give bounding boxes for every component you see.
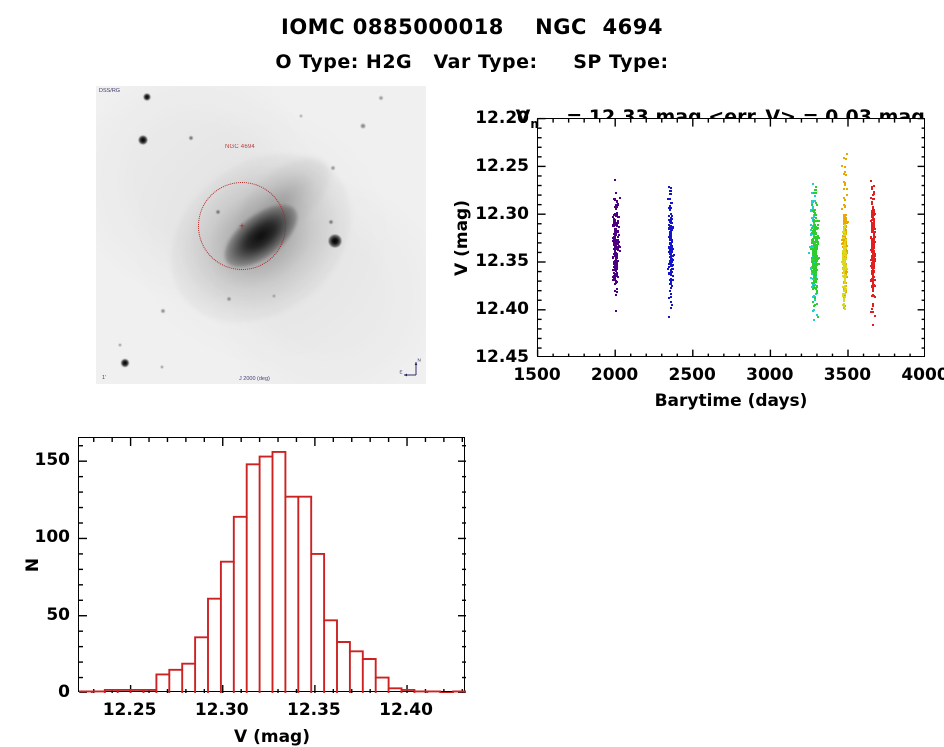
light-curve-point (814, 229, 816, 231)
light-curve-point (873, 198, 875, 200)
light-curve-point (843, 173, 845, 175)
light-curve-point (615, 294, 617, 296)
light-curve-point (813, 275, 815, 277)
light-curve-x-tick: 3000 (746, 365, 793, 385)
light-curve-point (814, 189, 816, 191)
light-curve-point (842, 231, 844, 233)
histogram-y-tick: 100 (26, 527, 70, 547)
light-curve-point (812, 282, 814, 284)
light-curve-point (671, 265, 673, 267)
light-curve-point (872, 274, 874, 276)
histogram-x-tick: 12.35 (287, 700, 341, 720)
light-curve-point (670, 193, 672, 195)
light-curve-point (845, 174, 847, 176)
field-star (227, 297, 231, 301)
light-curve-point (816, 290, 818, 292)
light-curve-point (844, 241, 846, 243)
light-curve-point (816, 303, 818, 305)
light-curve-point (815, 257, 817, 259)
light-curve-point (812, 206, 814, 208)
light-curve-point (844, 285, 846, 287)
light-curve-point (670, 243, 672, 245)
light-curve-point (870, 197, 872, 199)
light-curve-point (871, 188, 873, 190)
light-curve-point (872, 253, 874, 255)
light-curve-point (813, 277, 815, 279)
light-curve-x-axis-label: Barytime (days) (655, 391, 808, 411)
svg-text:N: N (418, 358, 421, 363)
light-curve-point (617, 236, 619, 238)
field-star (379, 96, 383, 100)
light-curve-point (846, 188, 848, 190)
field-star (300, 115, 303, 118)
light-curve-point (872, 270, 874, 272)
light-curve-point (843, 298, 845, 300)
light-curve-point (871, 230, 873, 232)
light-curve-point (816, 237, 818, 239)
light-curve-point (615, 204, 617, 206)
light-curve-point (616, 262, 618, 264)
light-curve-point (842, 304, 844, 306)
light-curve-point (845, 258, 847, 260)
field-star (273, 295, 276, 298)
light-curve-point (844, 233, 846, 235)
light-curve-point (667, 268, 669, 270)
light-curve-point (872, 305, 874, 307)
light-curve-point (874, 255, 876, 257)
light-curve-point (814, 195, 816, 197)
light-curve-point (669, 232, 671, 234)
light-curve-point (871, 286, 873, 288)
light-curve-point (813, 192, 815, 194)
light-curve-point (816, 245, 818, 247)
light-curve-point (872, 241, 874, 243)
target-center-marker: + (239, 223, 246, 230)
light-curve-point (813, 237, 815, 239)
light-curve-point (813, 272, 815, 274)
light-curve-point (844, 280, 846, 282)
scale-label: 1' (102, 375, 106, 381)
light-curve-point (670, 219, 672, 221)
light-curve-x-tick: 2500 (669, 365, 716, 385)
light-curve-point (846, 194, 848, 196)
light-curve-point (615, 310, 617, 312)
light-curve-point (817, 316, 819, 318)
light-curve-point (871, 279, 873, 281)
light-curve-point (670, 301, 672, 303)
light-curve-point (813, 309, 815, 311)
light-curve-point (844, 244, 846, 246)
light-curve-point (812, 301, 814, 303)
light-curve-point (874, 315, 876, 317)
light-curve-x-tick: 4000 (901, 365, 944, 385)
light-curve-point (844, 278, 846, 280)
light-curve-point (670, 296, 672, 298)
light-curve-point (669, 239, 671, 241)
light-curve-point (844, 308, 846, 310)
coordinate-label: J 2000 (deg) (239, 376, 270, 382)
light-curve-point (870, 180, 872, 182)
light-curve-point (670, 213, 672, 215)
light-curve-point (844, 252, 846, 254)
light-curve-point (843, 257, 845, 259)
light-curve-point (616, 256, 618, 258)
light-curve-point (670, 307, 672, 309)
light-curve-point (814, 247, 816, 249)
light-curve-point (815, 220, 817, 222)
light-curve-point (815, 233, 817, 235)
page-title: IOMC 0885000018 NGC 4694 (0, 15, 944, 39)
light-curve-y-tick: 12.45 (461, 347, 529, 367)
histogram-y-tick: 50 (26, 605, 70, 625)
light-curve-point (841, 208, 843, 210)
light-curve-point (670, 281, 672, 283)
light-curve-x-tick: 2000 (591, 365, 638, 385)
light-curve-point (874, 213, 876, 215)
light-curve-point (614, 283, 616, 285)
field-star (119, 344, 122, 347)
light-curve-point (615, 228, 617, 230)
survey-label: DSS/RG (99, 88, 120, 94)
light-curve-point (872, 303, 874, 305)
light-curve-point (616, 246, 618, 248)
light-curve-x-tick: 1500 (513, 365, 560, 385)
light-curve-point (671, 268, 673, 270)
light-curve-point (816, 248, 818, 250)
light-curve-point (872, 282, 874, 284)
light-curve-point (844, 199, 846, 201)
magnitude-histogram-plot (78, 437, 465, 692)
light-curve-point (844, 221, 846, 223)
light-curve-point (844, 224, 846, 226)
histogram-x-tick: 12.25 (103, 700, 157, 720)
light-curve-point (816, 204, 818, 206)
light-curve-point (872, 324, 874, 326)
light-curve-point (813, 225, 815, 227)
light-curve-point (670, 226, 672, 228)
light-curve-point (843, 197, 845, 199)
light-curve-point (615, 280, 617, 282)
light-curve-point (813, 319, 815, 321)
light-curve-point (845, 239, 847, 241)
light-curve-point (845, 158, 847, 160)
chart-object-label: NGC 4694 (225, 144, 255, 150)
light-curve-point (616, 201, 618, 203)
light-curve-point (816, 285, 818, 287)
light-curve-point (669, 290, 671, 292)
light-curve-point (813, 253, 815, 255)
light-curve-y-tick: 12.25 (461, 156, 529, 176)
light-curve-point (814, 297, 816, 299)
light-curve-point (818, 220, 820, 222)
light-curve-point (614, 251, 616, 253)
light-curve-point (670, 235, 672, 237)
light-curve-point (871, 295, 873, 297)
light-curve-point (816, 269, 818, 271)
light-curve-point (871, 222, 873, 224)
light-curve-point (614, 290, 616, 292)
histogram-bars (79, 438, 466, 693)
light-curve-point (843, 188, 845, 190)
field-star (139, 136, 148, 145)
field-star (161, 309, 165, 313)
light-curve-point (617, 243, 619, 245)
light-curve-point (871, 248, 873, 250)
light-curve-point (844, 254, 846, 256)
finding-chart-image: + NGC 4694 DSS/RG 1' J 2000 (deg) N E (96, 86, 426, 384)
light-curve-point (671, 304, 673, 306)
light-curve-point (818, 237, 820, 239)
light-curve-point (812, 210, 814, 212)
light-curve-point (872, 194, 874, 196)
light-curve-y-tick: 12.40 (461, 299, 529, 319)
light-curve-point (812, 183, 814, 185)
light-curve-point (873, 185, 875, 187)
light-curve-point (873, 191, 875, 193)
light-curve-point (669, 207, 671, 209)
light-curve-point (616, 215, 618, 217)
light-curve-x-tick: 3500 (824, 365, 871, 385)
light-curve-point (668, 272, 670, 274)
light-curve-point (815, 280, 817, 282)
field-star (329, 220, 333, 224)
light-curve-point (615, 208, 617, 210)
light-curve-point (811, 204, 813, 206)
light-curve-point (618, 234, 620, 236)
histogram-x-tick: 12.40 (379, 700, 433, 720)
light-curve-point (871, 201, 873, 203)
light-curve-point (670, 202, 672, 204)
light-curve-point (614, 273, 616, 275)
light-curve-point (669, 209, 671, 211)
light-curve-point (815, 202, 817, 204)
light-curve-point (811, 242, 813, 244)
field-star (121, 359, 129, 367)
histogram-y-axis-label: N (23, 558, 43, 572)
light-curve-point (614, 231, 616, 233)
light-curve-point (872, 311, 874, 313)
light-curve-point (667, 198, 669, 200)
light-curve-axes (536, 117, 924, 356)
light-curve-point (872, 290, 874, 292)
light-curve-point (814, 214, 816, 216)
light-curve-point (615, 266, 617, 268)
light-curve-point (614, 237, 616, 239)
light-curve-point (617, 249, 619, 251)
light-curve-point (873, 263, 875, 265)
light-curve-point (614, 234, 616, 236)
light-curve-point (615, 192, 617, 194)
light-curve-point (815, 186, 817, 188)
light-curve-point (842, 293, 844, 295)
light-curve-y-tick: 12.20 (461, 108, 529, 128)
light-curve-point (815, 267, 817, 269)
light-curve-point (817, 224, 819, 226)
light-curve-point (808, 252, 810, 254)
light-curve-point (670, 259, 672, 261)
light-curve-point (668, 316, 670, 318)
light-curve-point (843, 237, 845, 239)
light-curve-point (812, 260, 814, 262)
light-curve-point (670, 272, 672, 274)
iomc-summary-page: IOMC 0885000018 NGC 4694 O Type: H2G Var… (0, 0, 944, 747)
field-star (331, 166, 335, 170)
light-curve-point (671, 285, 673, 287)
light-curve-point (619, 197, 621, 199)
field-star (144, 94, 151, 101)
light-curve-point (843, 227, 845, 229)
field-star (329, 235, 342, 248)
svg-text:E: E (400, 370, 403, 375)
light-curve-point (616, 225, 618, 227)
light-curve-point (810, 224, 812, 226)
histogram-y-tick: 0 (26, 682, 70, 702)
light-curve-point (669, 250, 671, 252)
light-curve-point (616, 212, 618, 214)
field-star (161, 366, 164, 369)
light-curve-point (668, 297, 670, 299)
light-curve-point (871, 203, 873, 205)
light-curve-point (614, 221, 616, 223)
light-curve-point (617, 231, 619, 233)
light-curve-point (816, 292, 818, 294)
light-curve-point (872, 208, 874, 210)
histogram-x-axis-label: V (mag) (234, 727, 310, 747)
light-curve-point (844, 166, 846, 168)
light-curve-point (874, 285, 876, 287)
light-curve-point (614, 243, 616, 245)
light-curve-point (817, 243, 819, 245)
light-curve-point (616, 288, 618, 290)
light-curve-point (672, 275, 674, 277)
light-curve-point (818, 263, 820, 265)
light-curve-point (841, 165, 843, 167)
light-curve-point (613, 266, 615, 268)
light-curve-point (844, 250, 846, 252)
light-curve-point (844, 282, 846, 284)
light-curve-point (813, 285, 815, 287)
light-curve-point (670, 252, 672, 254)
light-curve-point (844, 206, 846, 208)
light-curve-point (844, 182, 846, 184)
histogram-x-tick: 12.30 (195, 700, 249, 720)
light-curve-point (872, 216, 874, 218)
object-type-line: O Type: H2G Var Type: SP Type: (0, 51, 944, 73)
light-curve-point (844, 214, 846, 216)
compass-rose-icon: N E (396, 357, 422, 379)
light-curve-point (846, 153, 848, 155)
light-curve-point (670, 248, 672, 250)
light-curve-point (874, 236, 876, 238)
light-curve-point (845, 288, 847, 290)
histogram-y-tick: 150 (26, 450, 70, 470)
light-curve-point (843, 229, 845, 231)
light-curve-point (670, 190, 672, 192)
light-curve-plot (537, 118, 925, 357)
light-curve-point (872, 225, 874, 227)
light-curve-point (613, 269, 615, 271)
field-star (361, 124, 366, 129)
field-star (189, 136, 193, 140)
light-curve-point (813, 305, 815, 307)
light-curve-point (616, 241, 618, 243)
light-curve-point (843, 300, 845, 302)
light-curve-y-axis-label: V (mag) (452, 200, 472, 276)
light-curve-point (873, 234, 875, 236)
light-curve-point (874, 296, 876, 298)
light-curve-point (612, 279, 614, 281)
light-curve-point (812, 288, 814, 290)
light-curve-point (614, 179, 616, 181)
light-curve-point (845, 267, 847, 269)
light-curve-point (813, 233, 815, 235)
